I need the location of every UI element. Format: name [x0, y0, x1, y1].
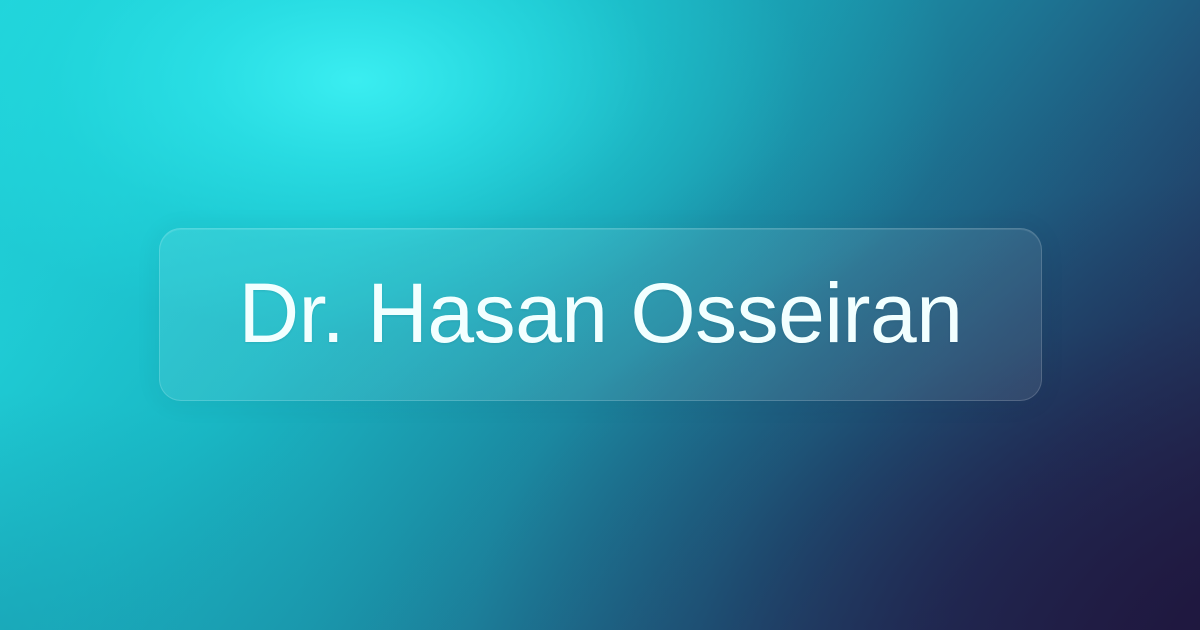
name-card: Dr. Hasan Osseiran	[159, 228, 1042, 401]
og-banner: Dr. Hasan Osseiran	[0, 0, 1200, 630]
person-name: Dr. Hasan Osseiran	[239, 271, 963, 359]
